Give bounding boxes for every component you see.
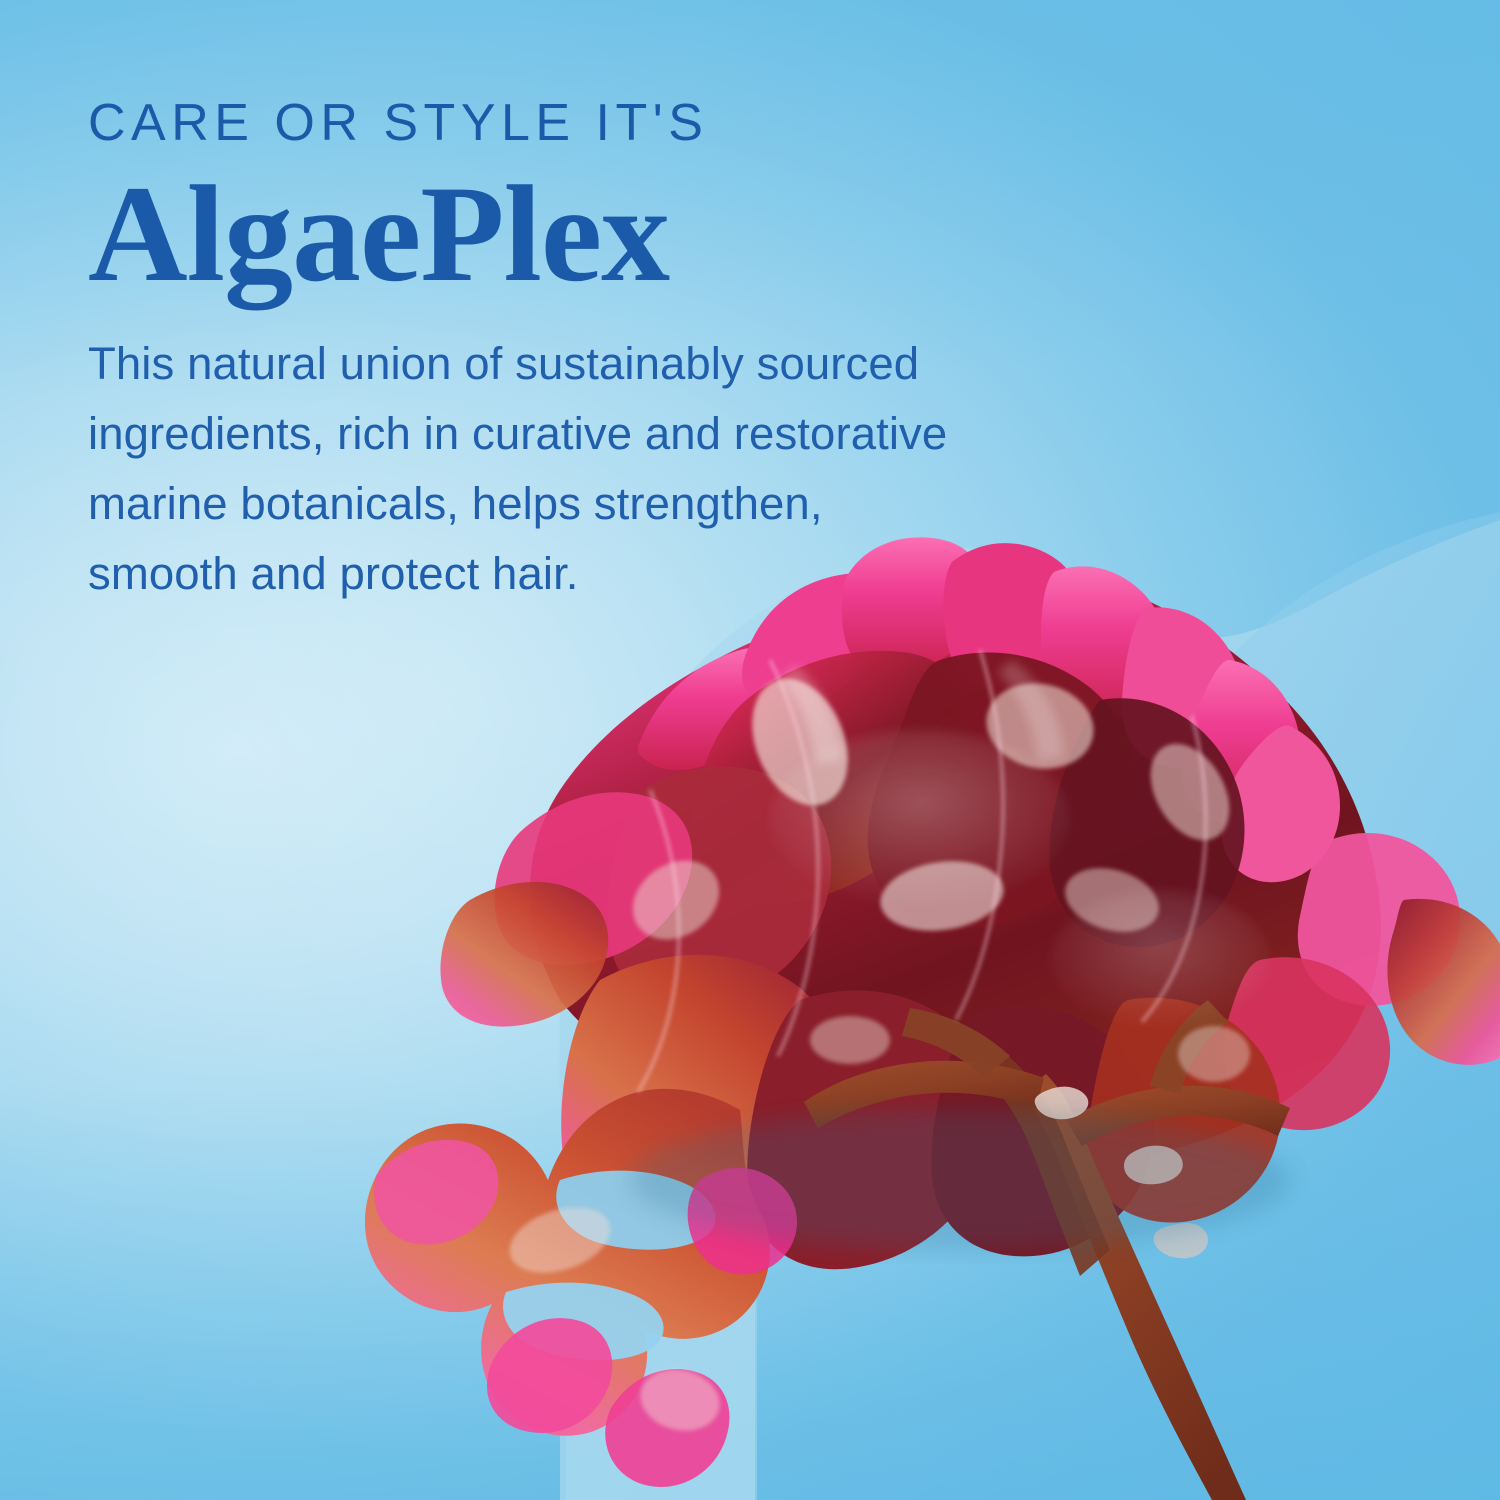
brand-wordmark: AlgaePlex [88, 165, 1108, 303]
eyebrow-text: CARE OR STYLE IT'S [88, 96, 1108, 151]
paragraph-line: smooth and protect hair. [88, 539, 1088, 609]
paragraph-line: marine botanicals, helps strengthen, [88, 469, 1088, 539]
body-paragraph: This natural union of sustainably source… [88, 329, 1088, 609]
copy-block: CARE OR STYLE IT'S AlgaePlex This natura… [88, 96, 1108, 609]
paragraph-line: ingredients, rich in curative and restor… [88, 399, 1088, 469]
banner-canvas: CARE OR STYLE IT'S AlgaePlex This natura… [0, 0, 1500, 1500]
paragraph-line: This natural union of sustainably source… [88, 329, 1088, 399]
